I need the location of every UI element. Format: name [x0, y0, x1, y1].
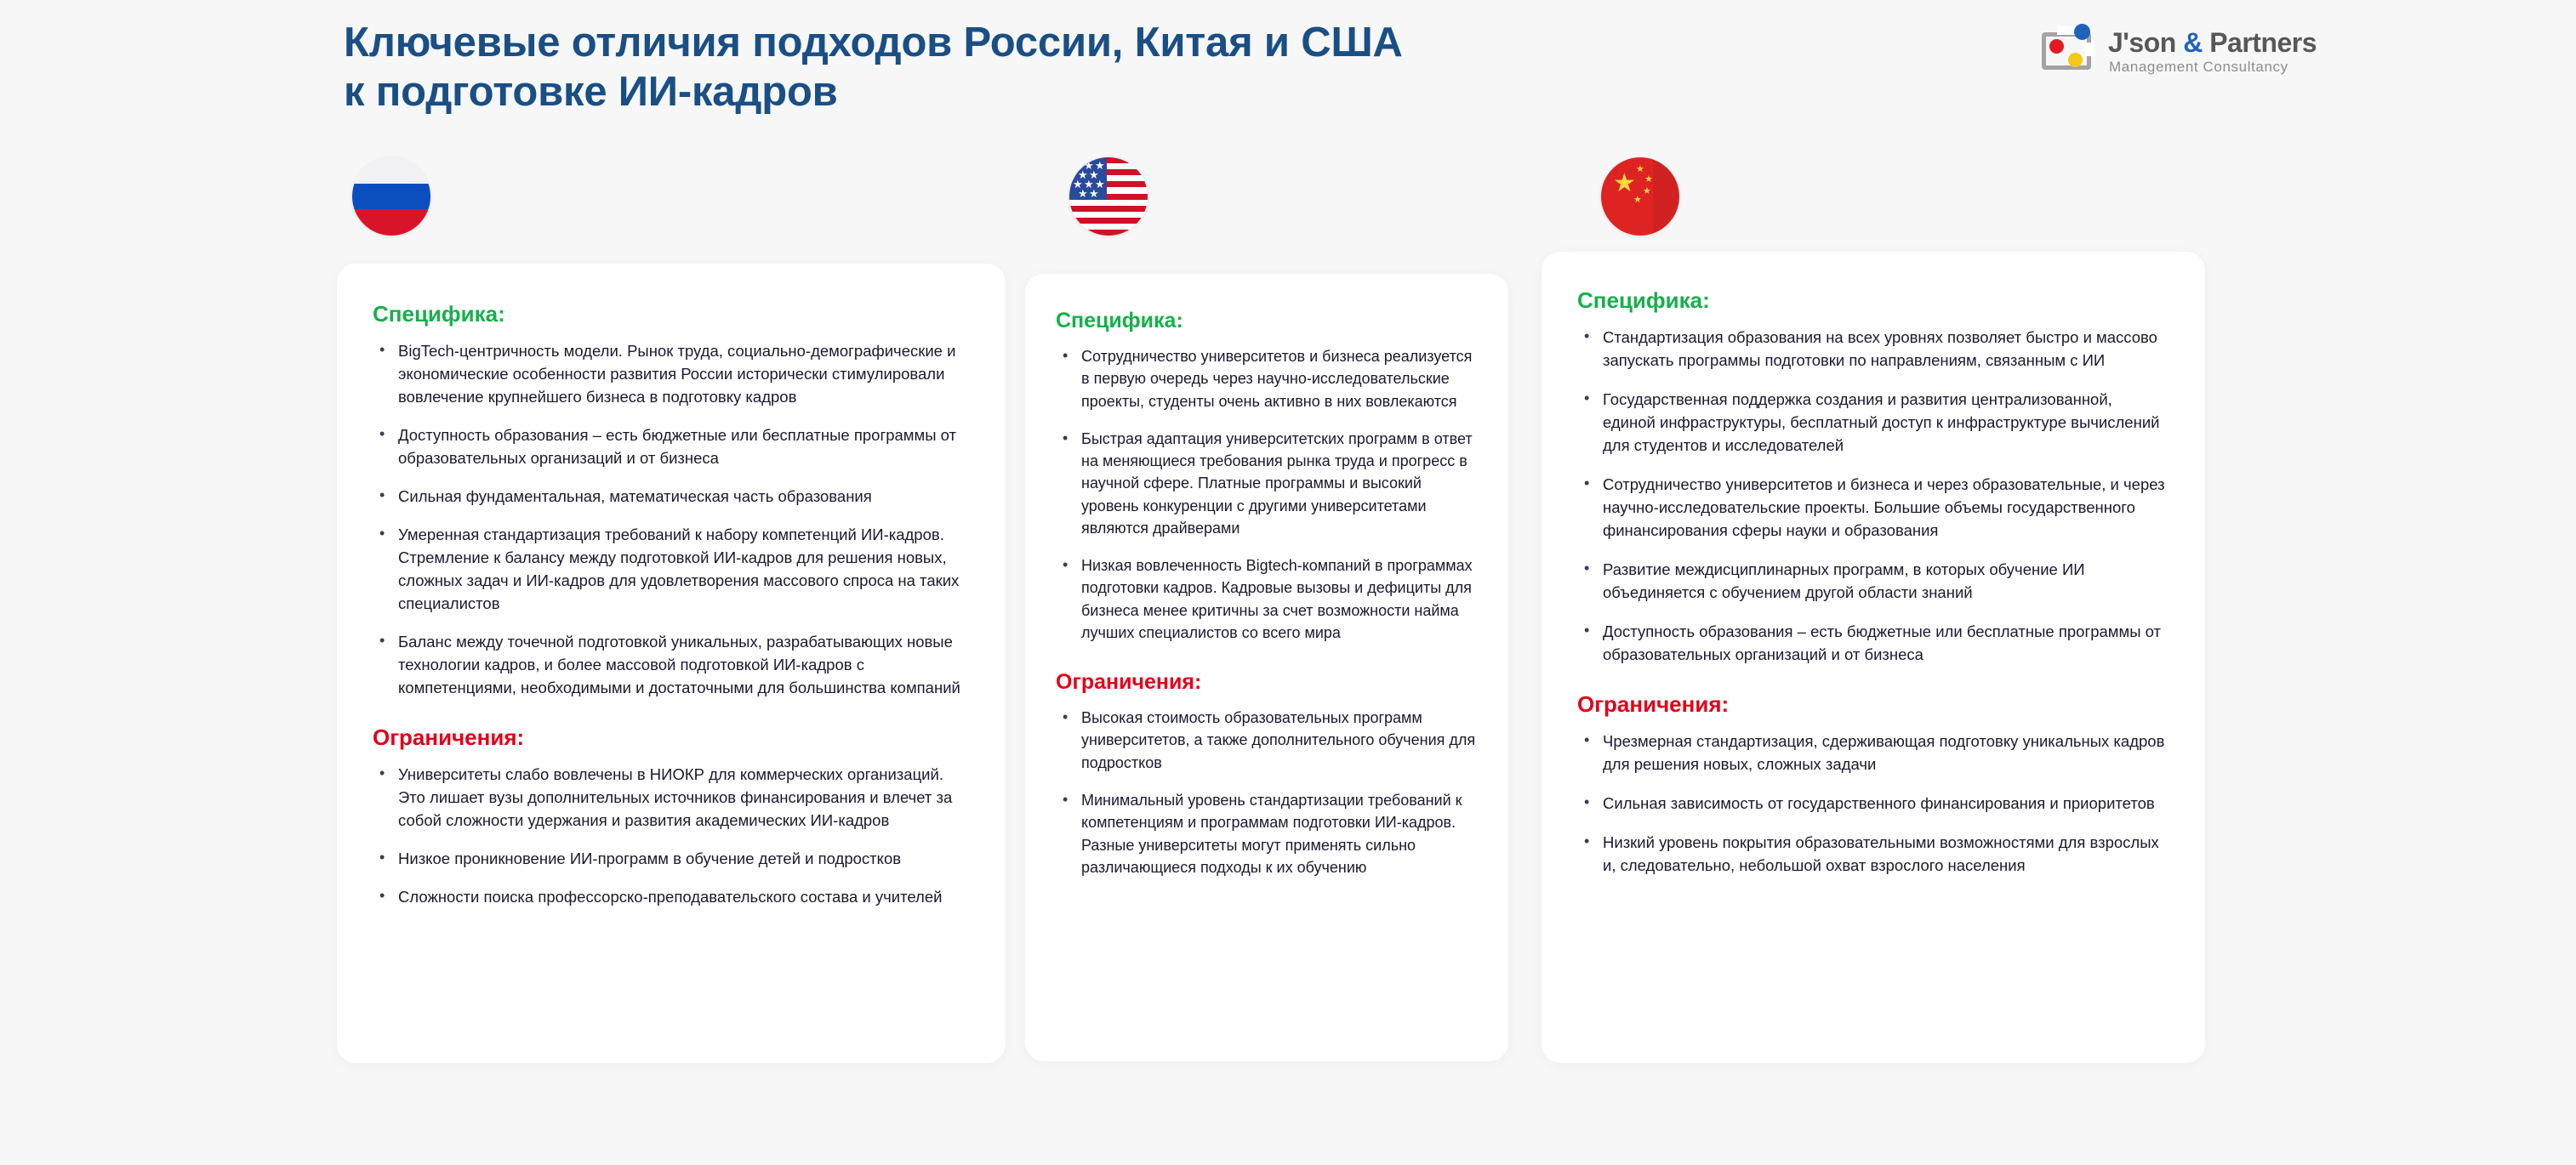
usa-flag-icon: ★ ★ ★ ★ ★ ★ ★ ★ ★ ★: [1069, 157, 1148, 236]
list-item: Умеренная стандартизация требований к на…: [373, 523, 970, 615]
logo-wordmark: J'son & Partners: [2108, 27, 2317, 59]
limitations-list-usa: Высокая стоимость образовательных програ…: [1056, 707, 1479, 878]
list-item: Низкая вовлеченность Bigtech-компаний в …: [1056, 554, 1479, 644]
country-card-usa: Специфика: Сотрудничество университетов …: [1025, 274, 1508, 1061]
list-item: Стандартизация образования на всех уровн…: [1577, 326, 2168, 372]
list-item: Доступность образования – есть бюджетные…: [373, 423, 970, 469]
specifics-heading-russia: Специфика:: [373, 301, 970, 327]
page-header: Ключевые отличия подходов России, Китая …: [0, 0, 2576, 145]
china-star-large-icon: ★: [1613, 171, 1636, 196]
logo-mark-icon: [2040, 29, 2101, 77]
logo-name-main: J'son: [2108, 27, 2183, 58]
country-card-china: Специфика: Стандартизация образования на…: [1542, 252, 2205, 1063]
list-item: Сотрудничество университетов и бизнеса и…: [1577, 473, 2168, 542]
list-item: Минимальный уровень стандартизации требо…: [1056, 789, 1479, 878]
list-item: Государственная поддержка создания и раз…: [1577, 388, 2168, 457]
list-item: Низкий уровень покрытия образовательными…: [1577, 831, 2168, 877]
list-item: Сильная фундаментальная, математическая …: [373, 485, 970, 508]
limitations-list-china: Чрезмерная стандартизация, сдерживающая …: [1577, 730, 2168, 877]
usa-star-icon: ★: [1089, 188, 1099, 199]
card-content-china: Специфика: Стандартизация образования на…: [1542, 252, 2205, 1063]
logo-frame-notch-right: [2084, 43, 2094, 56]
list-item: Низкое проникновение ИИ-программ в обуче…: [373, 847, 970, 870]
card-content-usa: Специфика: Сотрудничество университетов …: [1025, 274, 1508, 1061]
logo-dot-red-icon: [2049, 39, 2064, 54]
limitations-heading-china: Ограничения:: [1577, 691, 2168, 718]
list-item: Чрезмерная стандартизация, сдерживающая …: [1577, 730, 2168, 776]
specifics-list-usa: Сотрудничество университетов и бизнеса р…: [1056, 345, 1479, 644]
country-card-russia: Специфика: BigTech-центричность модели. …: [337, 264, 1006, 1063]
logo-dot-blue-icon: [2074, 24, 2090, 40]
list-item: Баланс между точечной подготовкой уникал…: [373, 630, 970, 699]
russia-flag-icon: [352, 157, 430, 236]
list-item: Развитие междисциплинарных программ, в к…: [1577, 558, 2168, 604]
china-flag-icon: ★ ★ ★ ★ ★: [1601, 157, 1679, 236]
china-star-small-icon: ★: [1644, 175, 1653, 185]
list-item: Университеты слабо вовлечены в НИОКР для…: [373, 763, 970, 832]
list-item: Высокая стоимость образовательных програ…: [1056, 707, 1479, 774]
company-logo: J'son & Partners Management Consultancy: [2040, 24, 2321, 87]
logo-ampersand: &: [2183, 27, 2203, 58]
list-item: Сильная зависимость от государственного …: [1577, 792, 2168, 815]
list-item: BigTech-центричность модели. Рынок труда…: [373, 339, 970, 408]
specifics-heading-china: Специфика:: [1577, 287, 2168, 314]
page-title: Ключевые отличия подходов России, Китая …: [344, 19, 1875, 117]
specifics-heading-usa: Специфика:: [1056, 308, 1479, 333]
usa-stripe: [1069, 206, 1148, 212]
logo-name-tail: Partners: [2203, 27, 2317, 58]
list-item: Сложности поиска профессорско-преподават…: [373, 885, 970, 908]
russia-flag-stripe-white: [352, 157, 430, 184]
logo-tagline: Management Consultancy: [2109, 59, 2288, 76]
usa-flag-canton: ★ ★ ★ ★ ★ ★ ★ ★ ★ ★: [1069, 157, 1107, 199]
list-item: Сотрудничество университетов и бизнеса р…: [1056, 345, 1479, 412]
china-star-small-icon: ★: [1636, 165, 1644, 174]
specifics-list-russia: BigTech-центричность модели. Рынок труда…: [373, 339, 970, 699]
usa-stripe: [1069, 218, 1148, 224]
limitations-heading-russia: Ограничения:: [373, 725, 970, 751]
logo-dot-yellow-icon: [2068, 53, 2083, 67]
list-item: Доступность образования – есть бюджетные…: [1577, 620, 2168, 666]
limitations-heading-usa: Ограничения:: [1056, 669, 1479, 695]
usa-star-icon: ★: [1078, 188, 1088, 199]
china-flag-shade: [1653, 157, 1679, 236]
limitations-list-russia: Университеты слабо вовлечены в НИОКР для…: [373, 763, 970, 908]
usa-stripe: [1069, 230, 1148, 236]
china-star-small-icon: ★: [1633, 196, 1642, 205]
russia-flag-stripe-red: [352, 209, 430, 236]
list-item: Быстрая адаптация университетских програ…: [1056, 428, 1479, 539]
card-content-russia: Специфика: BigTech-центричность модели. …: [337, 264, 1006, 1063]
china-star-small-icon: ★: [1643, 187, 1651, 196]
russia-flag-stripe-blue: [352, 184, 430, 210]
specifics-list-china: Стандартизация образования на всех уровн…: [1577, 326, 2168, 666]
